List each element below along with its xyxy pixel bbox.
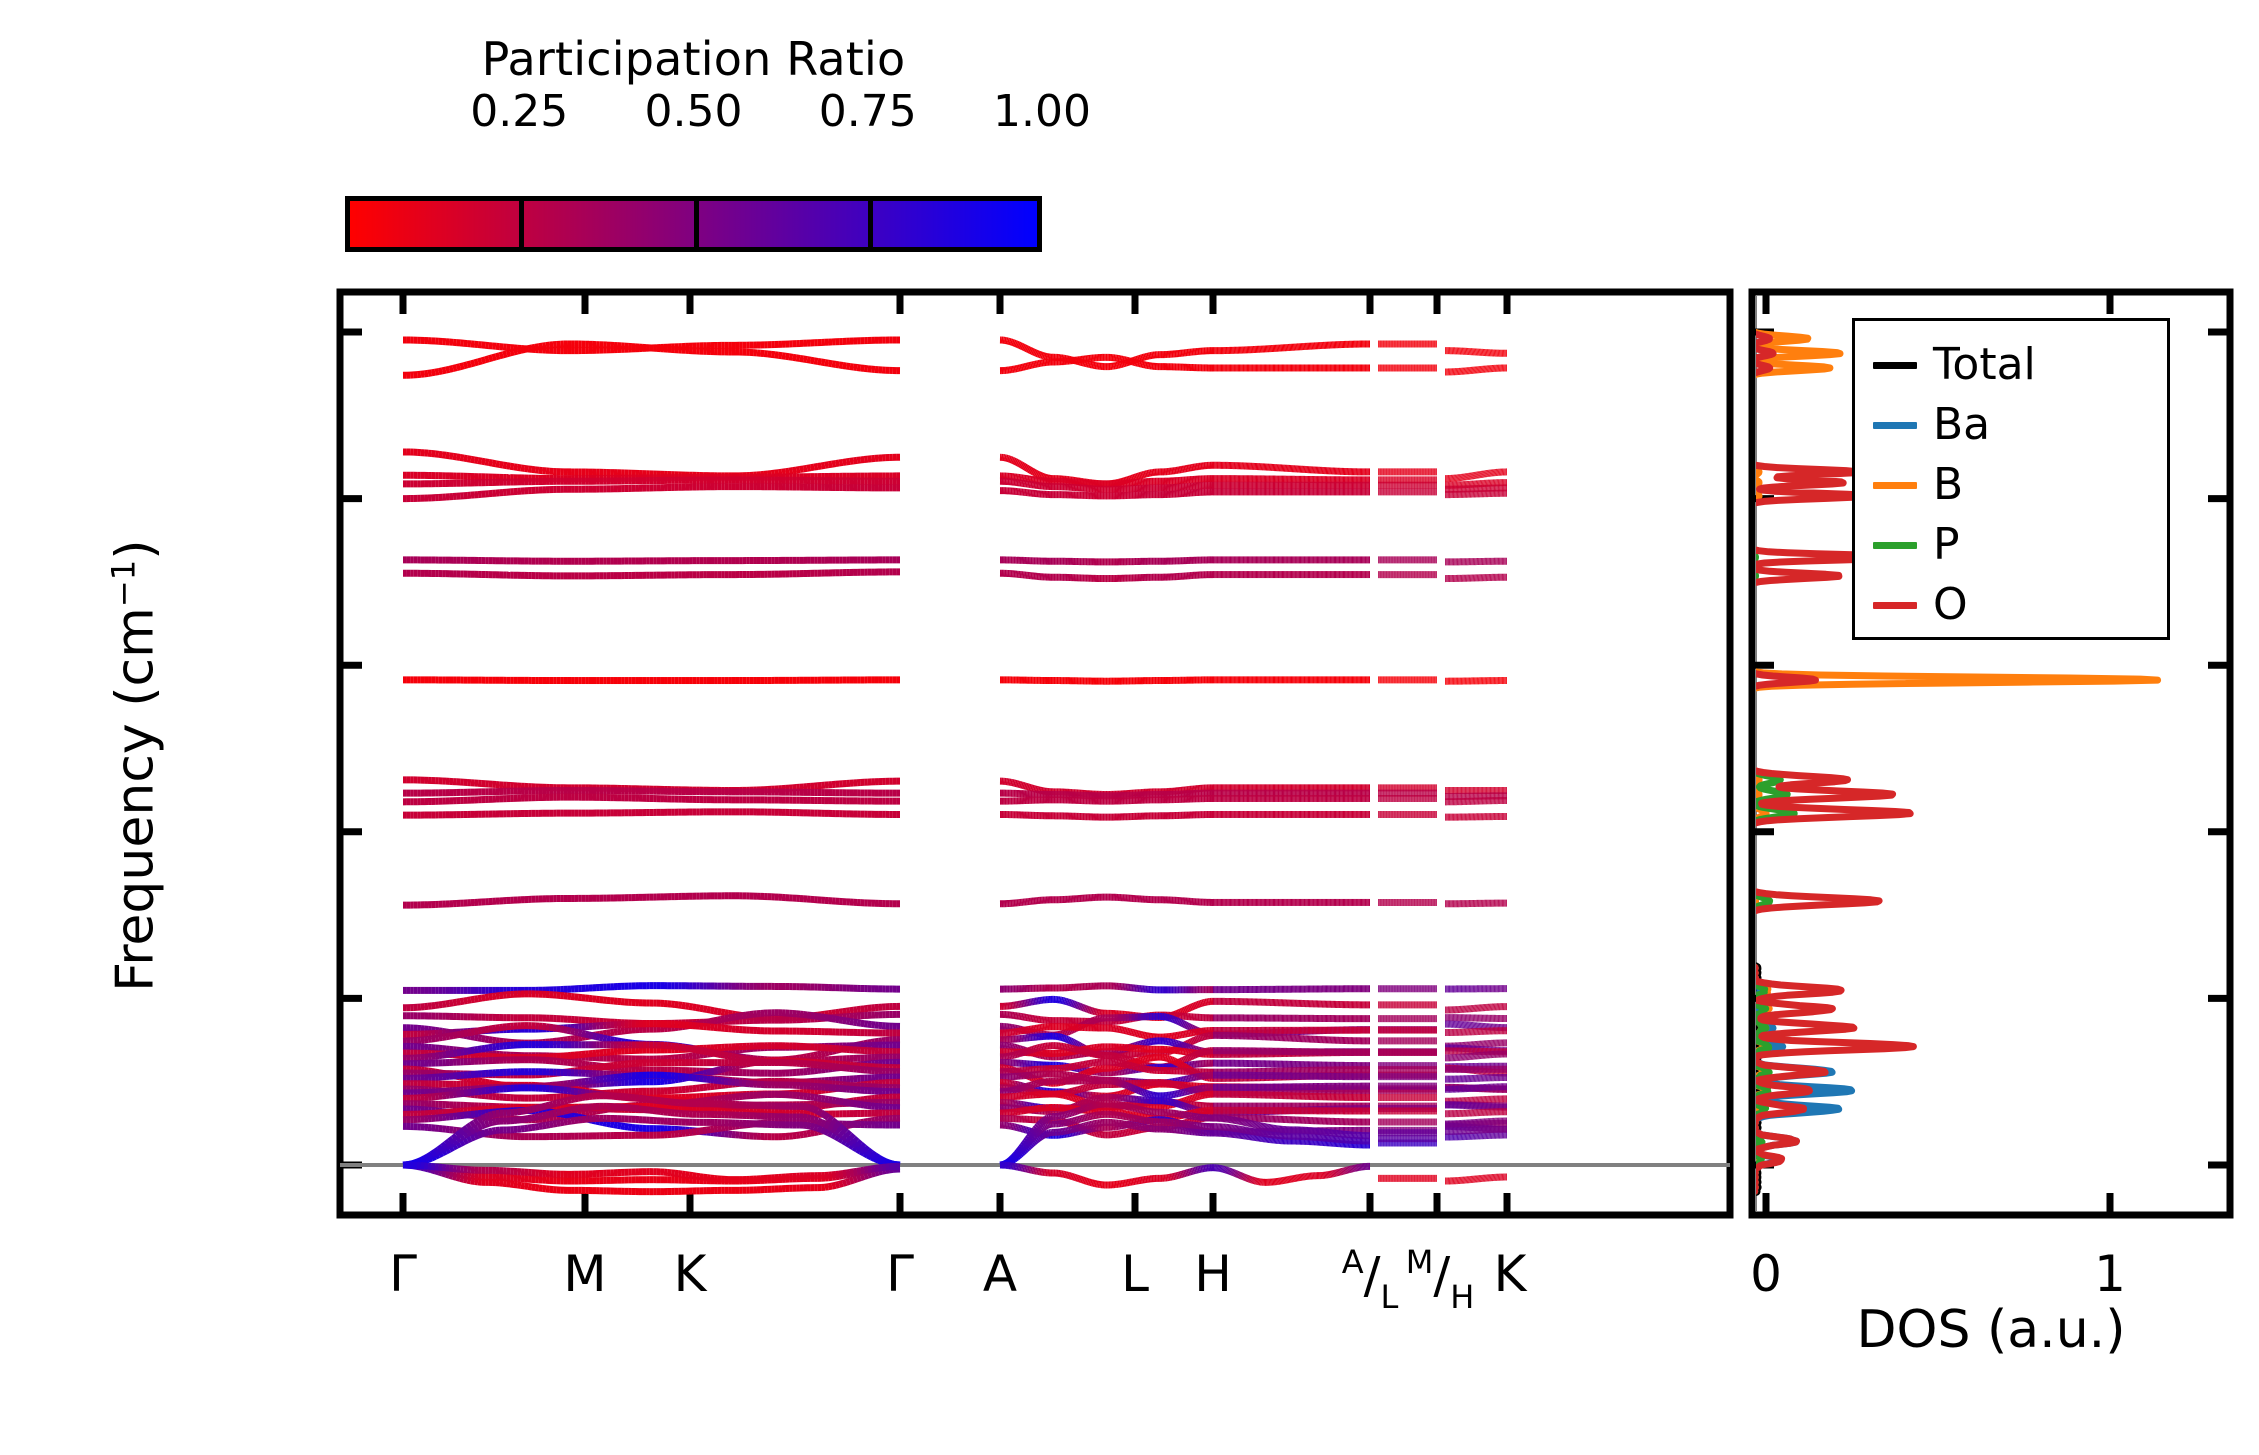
x-tick-label-gamma-2: Γ xyxy=(886,1245,914,1303)
band-segment xyxy=(446,455,450,456)
band-segment xyxy=(1015,462,1017,463)
band-segment xyxy=(453,456,457,457)
fraction-m-h-denominator: H xyxy=(1450,1278,1474,1316)
band-segment xyxy=(1025,348,1027,349)
band-segment xyxy=(460,366,464,367)
band-segment xyxy=(818,361,822,362)
band-segment xyxy=(1032,351,1034,352)
band-segment xyxy=(471,363,475,364)
band-segment xyxy=(793,357,797,358)
band-segment xyxy=(1026,348,1028,349)
band-segment xyxy=(846,366,850,367)
band-segment xyxy=(514,467,518,468)
band-segment xyxy=(1136,476,1138,477)
band-segment xyxy=(1132,478,1134,479)
dos-axis-label: DOS (a.u.) xyxy=(1752,1300,2230,1360)
band-segment xyxy=(818,466,822,467)
band-segment xyxy=(1029,469,1031,470)
band-segment xyxy=(836,463,840,464)
band-structure-curves xyxy=(403,340,1507,1192)
band-segment xyxy=(1040,355,1042,356)
band-segment xyxy=(821,362,825,363)
band-segment xyxy=(1026,468,1028,469)
band-segment xyxy=(1037,353,1039,354)
band-segment xyxy=(517,467,521,468)
band-segment xyxy=(825,363,829,364)
band-segment xyxy=(1034,472,1036,473)
colorbar-tick-1: 0.50 xyxy=(645,86,743,137)
band-segment xyxy=(1028,469,1030,470)
band-segment xyxy=(1017,344,1019,345)
band-segment xyxy=(782,472,786,473)
x-tick-label-m: M xyxy=(563,1245,606,1303)
band-segment xyxy=(796,358,800,359)
band-segment xyxy=(843,365,847,366)
band-segment xyxy=(1034,352,1036,353)
band-segment xyxy=(478,461,482,462)
band-segment xyxy=(1132,361,1134,362)
band-segment xyxy=(503,354,507,355)
band-segment xyxy=(814,361,818,362)
band-segment xyxy=(807,468,811,469)
band-segment xyxy=(1012,342,1014,343)
band-segment xyxy=(1021,465,1023,466)
band-segment xyxy=(514,351,518,352)
band-segment xyxy=(510,466,514,467)
band-segment xyxy=(786,471,790,472)
band-segment xyxy=(839,462,843,463)
band-segment xyxy=(1135,477,1137,478)
y-axis-label-tail: ) xyxy=(106,539,166,559)
band-segment xyxy=(535,347,539,348)
dos-tick-label-1: 1 xyxy=(2094,1245,2126,1303)
y-axis-label-main: Frequency (cm xyxy=(106,607,166,992)
band-segment xyxy=(1020,345,1022,346)
band-segment xyxy=(1025,467,1027,468)
x-tick-label-a: A xyxy=(983,1245,1017,1303)
colorbar-tick-labels: 0.25 0.50 0.75 1.00 xyxy=(345,86,1042,142)
band-segment xyxy=(1130,361,1132,362)
band-segment xyxy=(503,465,507,466)
band-segment xyxy=(796,469,800,470)
band-segment xyxy=(1029,350,1031,351)
fraction-a-l: A/L xyxy=(1342,1245,1399,1312)
band-segment xyxy=(1014,461,1016,462)
band-segment xyxy=(782,356,786,357)
band-segment xyxy=(1135,360,1137,361)
band-segment xyxy=(828,464,832,465)
band-segment xyxy=(467,459,471,460)
band-segment xyxy=(485,462,489,463)
band-segment xyxy=(1031,351,1033,352)
band-segment xyxy=(539,346,543,347)
band-segment xyxy=(489,358,493,359)
x-tick-label-l: L xyxy=(1121,1245,1149,1303)
band-segment xyxy=(496,356,500,357)
band-segment xyxy=(542,346,546,347)
bands-axes-frame xyxy=(340,292,1730,1215)
band-segment xyxy=(489,462,493,463)
band-segment xyxy=(803,468,807,469)
band-segment xyxy=(1035,353,1037,354)
band-segment xyxy=(449,368,453,369)
band-segment xyxy=(485,359,489,360)
colorbar-title: Participation Ratio xyxy=(345,32,1042,86)
band-segment xyxy=(464,458,468,459)
band-segment xyxy=(1031,470,1033,471)
band-segment xyxy=(828,363,832,364)
figure-root: Participation Ratio 0.25 0.50 0.75 1.00 … xyxy=(0,0,2259,1455)
dos-tick-label-0: 0 xyxy=(1750,1245,1782,1303)
x-tick-label-a-over-l: A/L xyxy=(1342,1245,1399,1312)
band-segment xyxy=(811,360,815,361)
band-segment xyxy=(807,360,811,361)
band-segment xyxy=(432,372,436,373)
band-segment xyxy=(453,368,457,369)
band-segment xyxy=(457,367,461,368)
band-segment xyxy=(496,464,500,465)
band-segment xyxy=(521,349,525,350)
band-segment xyxy=(1133,477,1135,478)
band-segment xyxy=(439,371,443,372)
band-segment xyxy=(811,467,815,468)
x-tick-label-k-2: K xyxy=(1494,1245,1527,1303)
band-segment xyxy=(442,370,446,371)
band-segment xyxy=(507,353,511,354)
band-segment xyxy=(1129,362,1131,363)
x-tick-label-h: H xyxy=(1194,1245,1232,1303)
band-segment xyxy=(500,464,504,465)
band-segment xyxy=(1023,347,1025,348)
band-segment xyxy=(1035,473,1037,474)
x-tick-label-m-over-h: M/H xyxy=(1406,1245,1475,1312)
colorbar-divider-3 xyxy=(868,201,873,247)
band-segment xyxy=(428,373,432,374)
band-segment xyxy=(1009,459,1011,460)
fraction-m-h: M/H xyxy=(1406,1245,1475,1312)
band-segment xyxy=(517,350,521,351)
band-segment xyxy=(1023,466,1025,467)
band-segment xyxy=(821,465,825,466)
band-segment xyxy=(467,364,471,365)
band-segment xyxy=(836,364,840,365)
band-segment xyxy=(825,465,829,466)
band-segment xyxy=(500,355,504,356)
colorbar-tick-2: 0.75 xyxy=(819,86,917,137)
band-segment xyxy=(507,466,511,467)
band-segment xyxy=(446,369,450,370)
y-axis-label: Frequency (cm−1) xyxy=(104,316,165,1216)
band-segment xyxy=(492,463,496,464)
band-segment xyxy=(1011,460,1013,461)
band-segment xyxy=(475,460,479,461)
band-segment xyxy=(1043,476,1045,477)
band-segment xyxy=(1018,345,1020,346)
band-segment xyxy=(525,349,529,350)
band-segment xyxy=(1011,342,1013,343)
band-segment xyxy=(1130,478,1132,479)
band-segment xyxy=(800,358,804,359)
plot-canvas xyxy=(0,0,2259,1455)
band-segment xyxy=(464,365,468,366)
band-segment xyxy=(1021,346,1023,347)
participation-ratio-colorbar xyxy=(345,196,1042,252)
band-segment xyxy=(832,364,836,365)
band-segment xyxy=(789,471,793,472)
band-segment xyxy=(460,457,464,458)
band-segment xyxy=(814,467,818,468)
band-segment xyxy=(839,365,843,366)
band-segment xyxy=(1032,471,1034,472)
x-tick-label-gamma-1: Γ xyxy=(389,1245,417,1303)
band-segment xyxy=(803,359,807,360)
y-axis-label-exponent: −1 xyxy=(104,560,142,608)
band-segment xyxy=(482,461,486,462)
band-segment xyxy=(1018,463,1020,464)
fraction-a-l-denominator: L xyxy=(1380,1278,1398,1316)
band-segment xyxy=(471,459,475,460)
band-segment xyxy=(846,461,850,462)
band-segment xyxy=(435,372,439,373)
band-segment xyxy=(532,347,536,348)
band-segment xyxy=(786,356,790,357)
band-segment xyxy=(789,357,793,358)
band-segment xyxy=(1020,464,1022,465)
band-segment xyxy=(449,456,453,457)
band-segment xyxy=(482,360,486,361)
fraction-m-h-numerator: M xyxy=(1406,1243,1434,1281)
band-segment xyxy=(1012,460,1014,461)
band-segment xyxy=(1037,474,1039,475)
band-segment xyxy=(475,362,479,363)
band-segment xyxy=(843,462,847,463)
colorbar-tick-3: 1.00 xyxy=(993,86,1091,137)
band-segment xyxy=(832,464,836,465)
x-tick-label-k-1: K xyxy=(674,1245,707,1303)
band-segment xyxy=(528,348,532,349)
band-segment xyxy=(457,457,461,458)
band-segment xyxy=(1133,360,1135,361)
band-segment xyxy=(478,361,482,362)
band-segment xyxy=(492,357,496,358)
colorbar-divider-1 xyxy=(519,201,524,247)
fraction-a-l-numerator: A xyxy=(1342,1243,1364,1281)
colorbar-divider-2 xyxy=(694,201,699,247)
band-segment xyxy=(510,352,514,353)
band-segment xyxy=(793,470,797,471)
band-segment xyxy=(1014,343,1016,344)
band-segment xyxy=(800,469,804,470)
band-segment xyxy=(1038,475,1040,476)
band-segment xyxy=(1129,479,1131,480)
band-segment xyxy=(1041,476,1043,477)
colorbar-tick-0: 0.25 xyxy=(470,86,568,137)
band-segment xyxy=(521,468,525,469)
band-segment xyxy=(1040,475,1042,476)
band-segment xyxy=(1028,349,1030,350)
band-segment xyxy=(1015,343,1017,344)
band-segment xyxy=(1038,354,1040,355)
band-segment xyxy=(1136,359,1138,360)
band-segment xyxy=(1017,462,1019,463)
